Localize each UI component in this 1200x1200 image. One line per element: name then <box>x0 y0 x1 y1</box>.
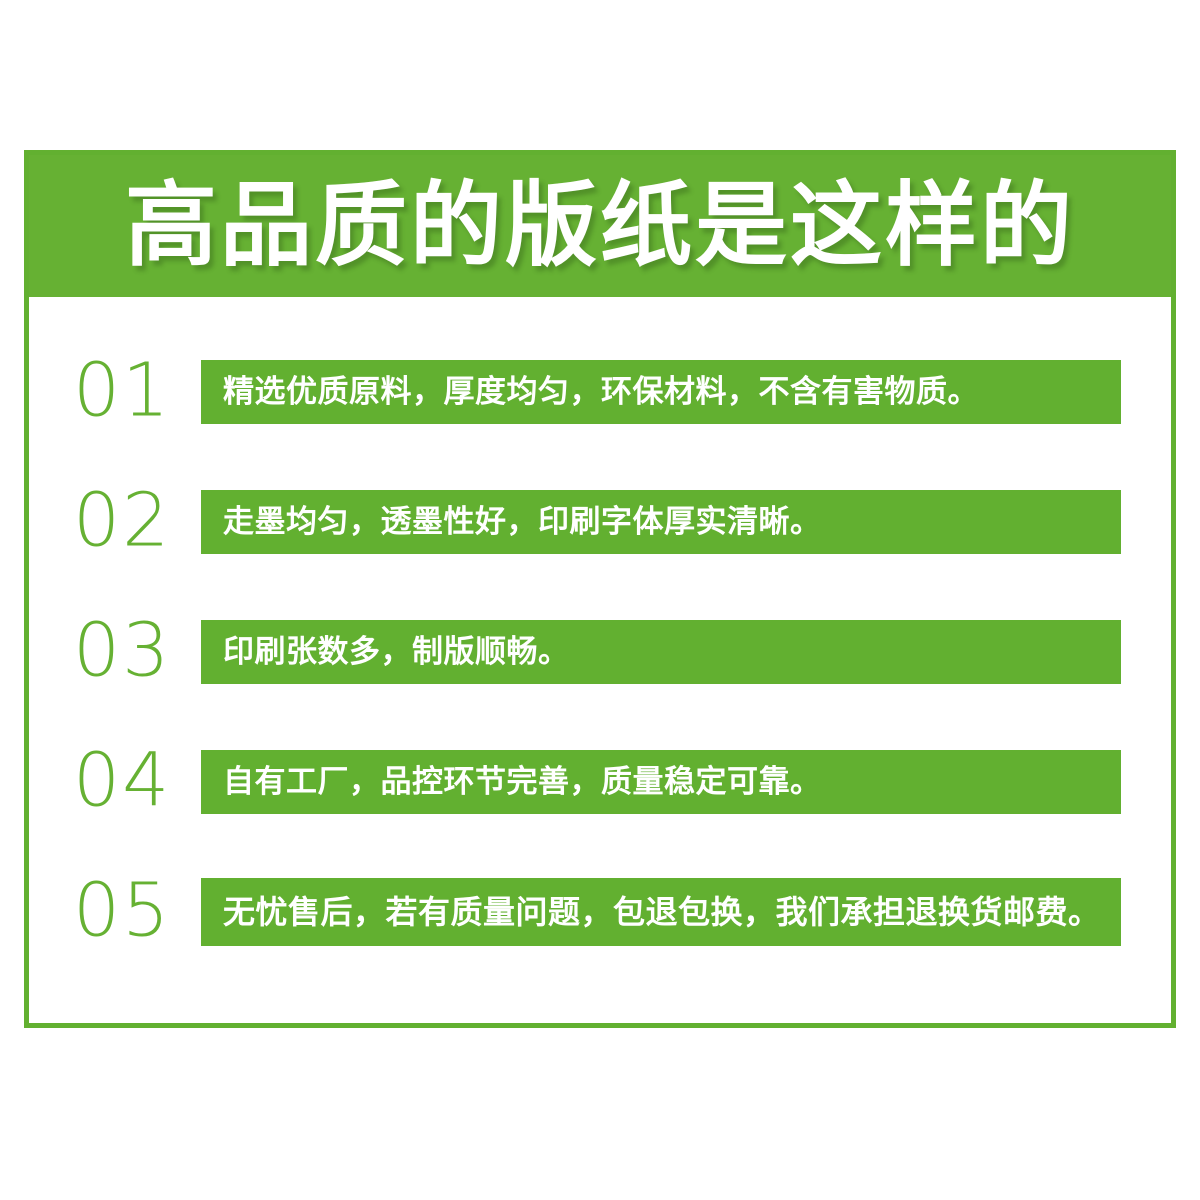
list-item: 05 无忧售后，若有质量问题，包退包换，我们承担退换货邮费。 <box>29 879 1171 945</box>
list-item: 04 自有工厂，品控环节完善，质量稳定可靠。 <box>29 749 1171 815</box>
feature-bar: 走墨均匀，透墨性好，印刷字体厚实清晰。 <box>201 490 1121 554</box>
feature-bar: 印刷张数多，制版顺畅。 <box>201 620 1121 684</box>
feature-number: 03 <box>73 614 203 688</box>
content-frame: 高品质的版纸是这样的 01 精选优质原料，厚度均匀，环保材料，不含有害物质。 0… <box>24 150 1176 1028</box>
product-feature-banner: 高品质的版纸是这样的 01 精选优质原料，厚度均匀，环保材料，不含有害物质。 0… <box>0 0 1200 1200</box>
feature-number: 02 <box>73 484 203 558</box>
feature-text: 精选优质原料，厚度均匀，环保材料，不含有害物质。 <box>223 377 979 408</box>
feature-bar: 精选优质原料，厚度均匀，环保材料，不含有害物质。 <box>201 360 1121 424</box>
banner-header: 高品质的版纸是这样的 <box>29 155 1171 297</box>
feature-text: 印刷张数多，制版顺畅。 <box>223 637 570 668</box>
page-title: 高品质的版纸是这样的 <box>125 180 1075 272</box>
feature-number: 01 <box>73 354 203 428</box>
list-item: 03 印刷张数多，制版顺畅。 <box>29 619 1171 685</box>
list-item: 01 精选优质原料，厚度均匀，环保材料，不含有害物质。 <box>29 359 1171 425</box>
feature-bar: 自有工厂，品控环节完善，质量稳定可靠。 <box>201 750 1121 814</box>
feature-text: 自有工厂，品控环节完善，质量稳定可靠。 <box>223 767 822 798</box>
feature-bar: 无忧售后，若有质量问题，包退包换，我们承担退换货邮费。 <box>201 878 1121 946</box>
list-item: 02 走墨均匀，透墨性好，印刷字体厚实清晰。 <box>29 489 1171 555</box>
feature-number: 04 <box>73 744 203 818</box>
feature-text: 无忧售后，若有质量问题，包退包换，我们承担退换货邮费。 <box>223 896 1101 928</box>
feature-list: 01 精选优质原料，厚度均匀，环保材料，不含有害物质。 02 走墨均匀，透墨性好… <box>29 297 1171 1023</box>
feature-number: 05 <box>73 874 203 948</box>
feature-text: 走墨均匀，透墨性好，印刷字体厚实清晰。 <box>223 507 822 538</box>
